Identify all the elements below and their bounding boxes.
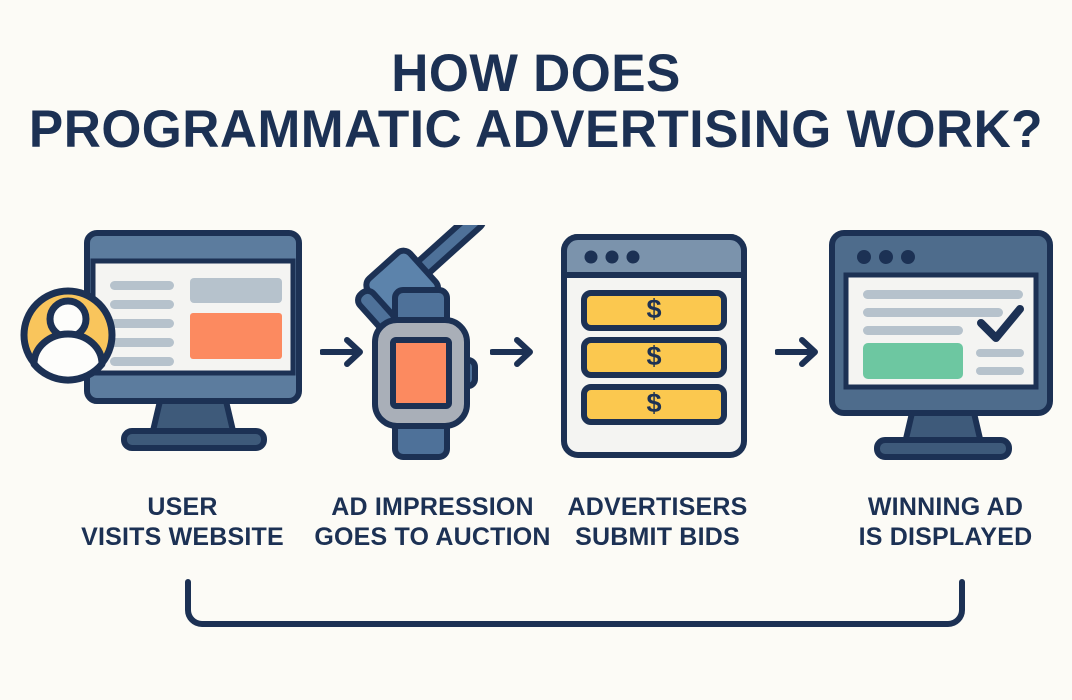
summary-bracket <box>180 578 970 638</box>
caption-step-4-line-1: WINNING AD <box>838 492 1053 522</box>
caption-step-1: USER VISITS WEBSITE <box>70 492 295 552</box>
caption-step-4-line-2: IS DISPLAYED <box>838 522 1053 552</box>
infographic-canvas: HOW DOES PROGRAMMATIC ADVERTISING WORK? <box>0 0 1072 700</box>
arrow-right-icon-2 <box>490 335 536 369</box>
monitor-with-user-avatar-icon <box>14 225 314 475</box>
steps-illustration-row: $ $ $ <box>0 225 1072 485</box>
step-3-advertisers-submit-bids: $ $ $ <box>556 225 756 485</box>
monitor-with-checkmark-icon <box>824 225 1064 475</box>
caption-step-3-line-1: ADVERTISERS <box>555 492 760 522</box>
caption-step-2: AD IMPRESSION GOES TO AUCTION <box>310 492 555 552</box>
bid-amount-3: $ <box>646 388 661 418</box>
caption-step-2-line-1: AD IMPRESSION <box>310 492 555 522</box>
page-title: HOW DOES PROGRAMMATIC ADVERTISING WORK? <box>0 46 1072 158</box>
caption-step-3-line-2: SUBMIT BIDS <box>555 522 760 552</box>
caption-step-1-line-2: VISITS WEBSITE <box>70 522 295 552</box>
step-1-user-visits-website <box>14 225 314 485</box>
caption-step-4: WINNING AD IS DISPLAYED <box>838 492 1053 552</box>
title-line-2: PROGRAMMATIC ADVERTISING WORK? <box>16 102 1056 158</box>
caption-step-1-line-1: USER <box>70 492 295 522</box>
caption-step-2-line-2: GOES TO AUCTION <box>310 522 555 552</box>
title-line-1: HOW DOES <box>16 46 1056 102</box>
caption-step-3: ADVERTISERS SUBMIT BIDS <box>555 492 760 552</box>
bid-window-icon: $ $ $ <box>556 225 756 475</box>
arrow-right-icon-3 <box>775 335 821 369</box>
step-4-winning-ad-is-displayed <box>824 225 1064 485</box>
bid-amount-1: $ <box>646 294 661 324</box>
bid-amount-2: $ <box>646 341 661 371</box>
